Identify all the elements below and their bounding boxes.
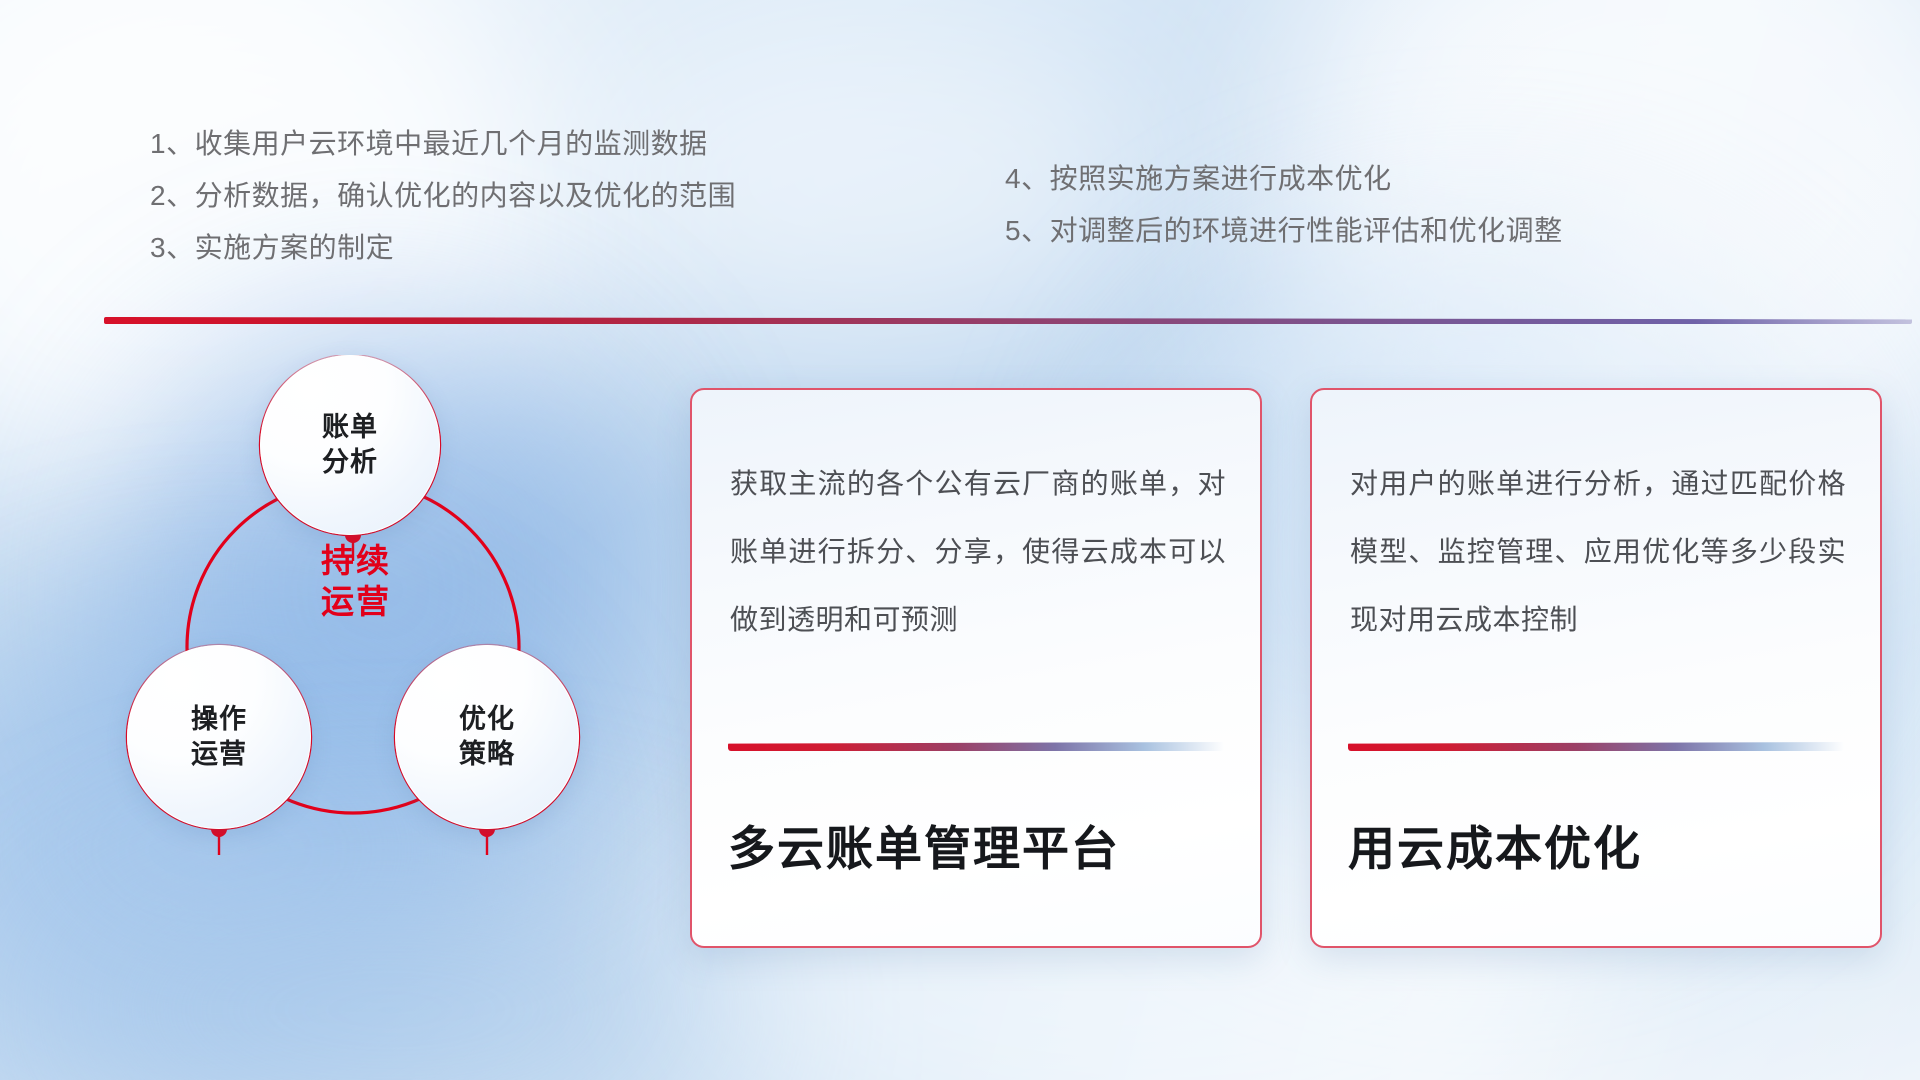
step-list-item: 4、按照实施方案进行成本优化	[1005, 153, 1563, 205]
diagram-node-label-line2: 策略	[459, 737, 515, 772]
diagram-center-label-line1: 持续	[291, 540, 421, 581]
diagram-node-operations[interactable]: 操作 运营	[127, 645, 311, 829]
diagram-node-label: 优化 策略	[459, 702, 515, 771]
diagram-node-label: 账单 分析	[322, 410, 378, 479]
feature-card-multicloud-billing[interactable]: 获取主流的各个公有云厂商的账单，对账单进行拆分、分享，使得云成本可以做到透明和可…	[690, 388, 1262, 948]
diagram-node-label-line2: 分析	[322, 445, 378, 480]
diagram-node-label-line1: 优化	[459, 702, 515, 737]
continuous-operation-diagram: 账单 分析 操作 运营 优化 策略 持续 运营	[95, 355, 655, 935]
step-list-column-left: 1、收集用户云环境中最近几个月的监测数据 2、分析数据，确认优化的内容以及优化的…	[150, 118, 736, 274]
step-list-item: 2、分析数据，确认优化的内容以及优化的范围	[150, 170, 736, 222]
feature-card-title: 用云成本优化	[1348, 810, 1850, 879]
feature-card-divider	[728, 742, 1224, 751]
feature-card-divider	[1348, 742, 1844, 751]
diagram-node-optimization-strategy[interactable]: 优化 策略	[395, 645, 579, 829]
feature-card-body: 获取主流的各个公有云厂商的账单，对账单进行拆分、分享，使得云成本可以做到透明和可…	[730, 450, 1226, 654]
step-list-item: 1、收集用户云环境中最近几个月的监测数据	[150, 118, 736, 170]
step-list-column-right: 4、按照实施方案进行成本优化 5、对调整后的环境进行性能评估和优化调整	[1005, 153, 1563, 257]
diagram-node-label: 操作 运营	[191, 702, 247, 771]
step-list: 1、收集用户云环境中最近几个月的监测数据 2、分析数据，确认优化的内容以及优化的…	[0, 0, 1920, 300]
diagram-center-label: 持续 运营	[291, 540, 421, 623]
diagram-node-label-line2: 运营	[191, 737, 247, 772]
diagram-node-bill-analysis[interactable]: 账单 分析	[260, 355, 440, 535]
feature-card-body: 对用户的账单进行分析，通过匹配价格模型、监控管理、应用优化等多少段实现对用云成本…	[1350, 450, 1846, 654]
step-list-item: 3、实施方案的制定	[150, 222, 736, 274]
feature-card-cost-optimization[interactable]: 对用户的账单进行分析，通过匹配价格模型、监控管理、应用优化等多少段实现对用云成本…	[1310, 388, 1882, 948]
step-list-item: 5、对调整后的环境进行性能评估和优化调整	[1005, 205, 1563, 257]
slide-canvas: 1、收集用户云环境中最近几个月的监测数据 2、分析数据，确认优化的内容以及优化的…	[0, 0, 1920, 1080]
feature-card-title: 多云账单管理平台	[728, 810, 1230, 879]
diagram-center-label-line2: 运营	[291, 581, 421, 622]
diagram-node-label-line1: 账单	[322, 410, 378, 445]
diagram-node-label-line1: 操作	[191, 702, 247, 737]
